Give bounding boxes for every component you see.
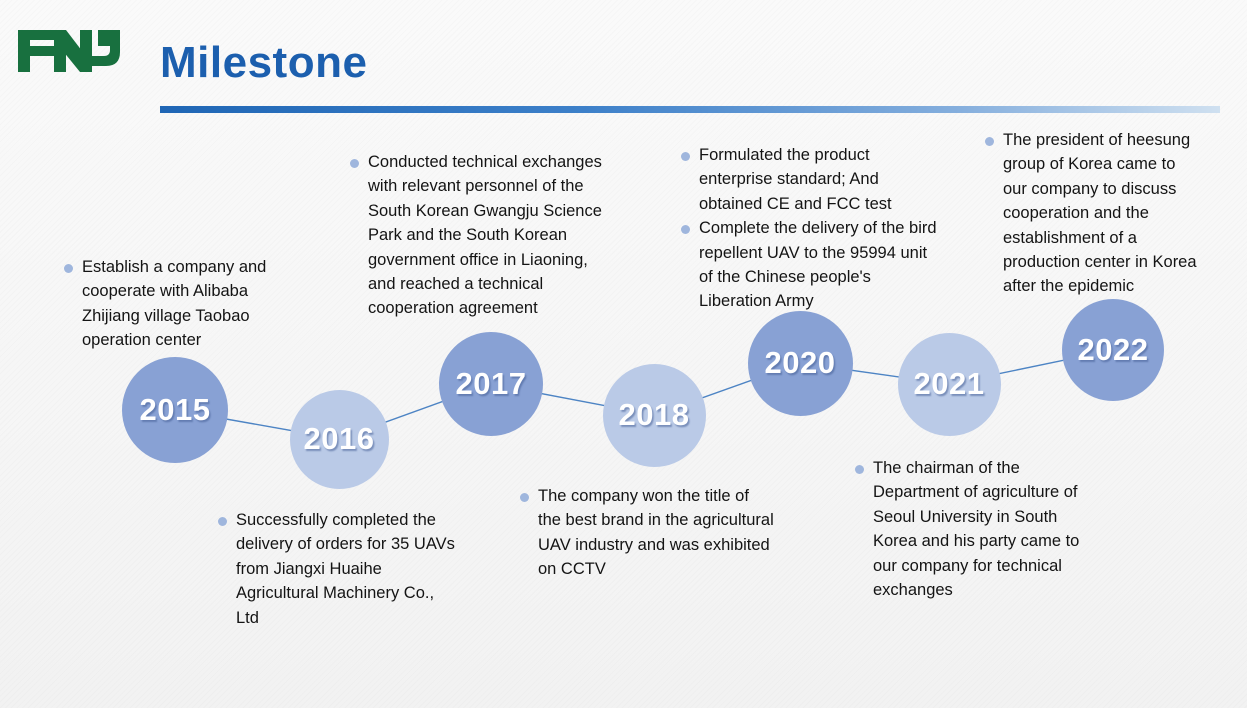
timeline-node-2020[interactable]: 2020 xyxy=(748,311,853,416)
milestone-bullet-text: Complete the delivery of the bird repell… xyxy=(699,216,937,314)
milestone-bullet-text: The company won the title of the best br… xyxy=(538,484,774,582)
milestone-bullet-text: Establish a company and cooperate with A… xyxy=(82,255,266,353)
milestone-bullet: Successfully completed the delivery of o… xyxy=(218,508,518,630)
milestone-bullet: The president of heesung group of Korea … xyxy=(985,128,1235,299)
timeline-node-year-label: 2016 xyxy=(304,421,375,457)
timeline-node-year-label: 2021 xyxy=(914,366,985,402)
milestone-bullet-text: Conducted technical exchanges with relev… xyxy=(368,150,602,321)
milestone-text-block-2015: Establish a company and cooperate with A… xyxy=(64,255,354,353)
milestone-bullet: Complete the delivery of the bird repell… xyxy=(681,216,981,314)
page-title: Milestone xyxy=(160,38,367,88)
milestone-bullet-text: The chairman of the Department of agricu… xyxy=(873,456,1079,602)
milestone-text-block-2016: Successfully completed the delivery of o… xyxy=(218,508,518,630)
bullet-dot-icon xyxy=(681,225,690,234)
timeline-node-year-label: 2017 xyxy=(456,366,527,402)
timeline-node-2017[interactable]: 2017 xyxy=(439,332,543,436)
bullet-dot-icon xyxy=(985,137,994,146)
milestone-bullet: Establish a company and cooperate with A… xyxy=(64,255,354,353)
milestone-text-block-2018: The company won the title of the best br… xyxy=(520,484,825,582)
timeline-node-year-label: 2020 xyxy=(765,345,836,381)
milestone-text-block-2022: The president of heesung group of Korea … xyxy=(985,128,1235,299)
bullet-dot-icon xyxy=(64,264,73,273)
bullet-dot-icon xyxy=(218,517,227,526)
milestone-text-block-2021: The chairman of the Department of agricu… xyxy=(855,456,1130,602)
milestone-bullet: Conducted technical exchanges with relev… xyxy=(350,150,658,321)
timeline-node-2018[interactable]: 2018 xyxy=(603,364,706,467)
slide-canvas: Milestone 2015201620172018202020212022 E… xyxy=(0,0,1247,708)
timeline-node-2022[interactable]: 2022 xyxy=(1062,299,1164,401)
bullet-dot-icon xyxy=(855,465,864,474)
milestone-bullet-text: Formulated the product enterprise standa… xyxy=(699,143,892,216)
fny-logo xyxy=(14,20,126,78)
bullet-dot-icon xyxy=(520,493,529,502)
bullet-dot-icon xyxy=(681,152,690,161)
timeline-node-year-label: 2018 xyxy=(619,397,690,433)
timeline-node-2016[interactable]: 2016 xyxy=(290,390,389,489)
milestone-text-block-2020: Formulated the product enterprise standa… xyxy=(681,143,981,314)
timeline-node-year-label: 2015 xyxy=(140,392,211,428)
timeline-node-2021[interactable]: 2021 xyxy=(898,333,1001,436)
milestone-text-block-2017: Conducted technical exchanges with relev… xyxy=(350,150,658,321)
title-underline-bar xyxy=(160,106,1220,113)
milestone-bullet-text: Successfully completed the delivery of o… xyxy=(236,508,455,630)
milestone-bullet: The company won the title of the best br… xyxy=(520,484,825,582)
milestone-bullet-text: The president of heesung group of Korea … xyxy=(1003,128,1197,299)
timeline-node-year-label: 2022 xyxy=(1078,332,1149,368)
timeline-node-2015[interactable]: 2015 xyxy=(122,357,228,463)
milestone-bullet: Formulated the product enterprise standa… xyxy=(681,143,981,216)
milestone-bullet: The chairman of the Department of agricu… xyxy=(855,456,1130,602)
bullet-dot-icon xyxy=(350,159,359,168)
